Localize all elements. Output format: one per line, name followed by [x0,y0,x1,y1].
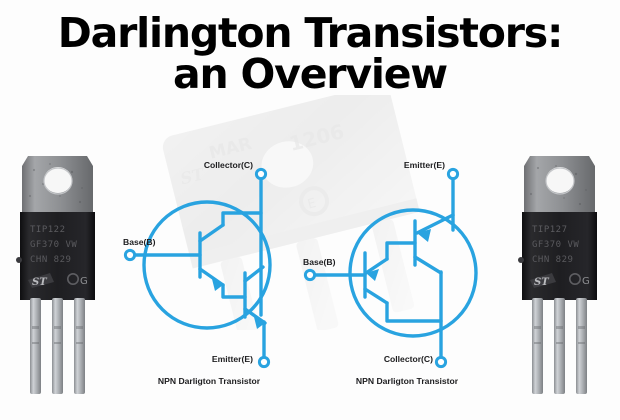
circuit-caption: NPN Darligton Transistor [158,376,261,386]
poster-canvas: MAR 1206 ST E Darlington Transistors: an… [0,0,620,420]
npn-darlington-left: Collector(C) Base(B) Emitter(E) NPN Darl… [105,155,315,390]
tip127-transistor-photo: TIP127 GF370 VW CHN 829 ST G [512,150,607,400]
label-emitter: Emitter(E) [404,160,445,170]
svg-text:CHN 829: CHN 829 [532,255,573,265]
svg-text:G: G [582,276,590,287]
emitter-terminal-dot [259,357,268,366]
svg-text:GF370 VW: GF370 VW [30,240,77,250]
svg-text:ST: ST [534,277,550,288]
circuit-caption: NPN Darligton Transistor [356,376,459,386]
npn-darlington-right: Emitter(E) Base(B) Collector(C) NPN Darl… [295,155,510,390]
svg-text:TIP127: TIP127 [532,225,568,235]
label-base: Base(B) [303,257,336,267]
svg-text:ST: ST [32,277,48,288]
tip122-transistor-photo: TIP122 GF370 VW CHN 829 ST G [10,150,105,400]
svg-text:GF370 VW: GF370 VW [532,240,579,250]
base-terminal-dot [125,250,134,259]
label-emitter: Emitter(E) [212,354,253,364]
device-envelope-circle [144,202,270,328]
label-collector: Collector(C) [384,354,433,364]
label-base: Base(B) [123,237,156,247]
svg-text:TIP122: TIP122 [30,225,66,235]
base-terminal-dot [305,270,314,279]
collector-terminal-dot [256,169,265,178]
emitter-terminal-dot [448,169,457,178]
svg-text:CHN 829: CHN 829 [30,255,71,265]
collector-terminal-dot [436,357,445,366]
page-title: Darlington Transistors: an Overview [0,14,620,95]
label-collector: Collector(C) [204,160,253,170]
svg-text:1206: 1206 [287,119,347,156]
title-line-2: an Overview [0,55,620,94]
svg-text:G: G [80,276,88,287]
title-line-1: Darlington Transistors: [0,14,620,53]
